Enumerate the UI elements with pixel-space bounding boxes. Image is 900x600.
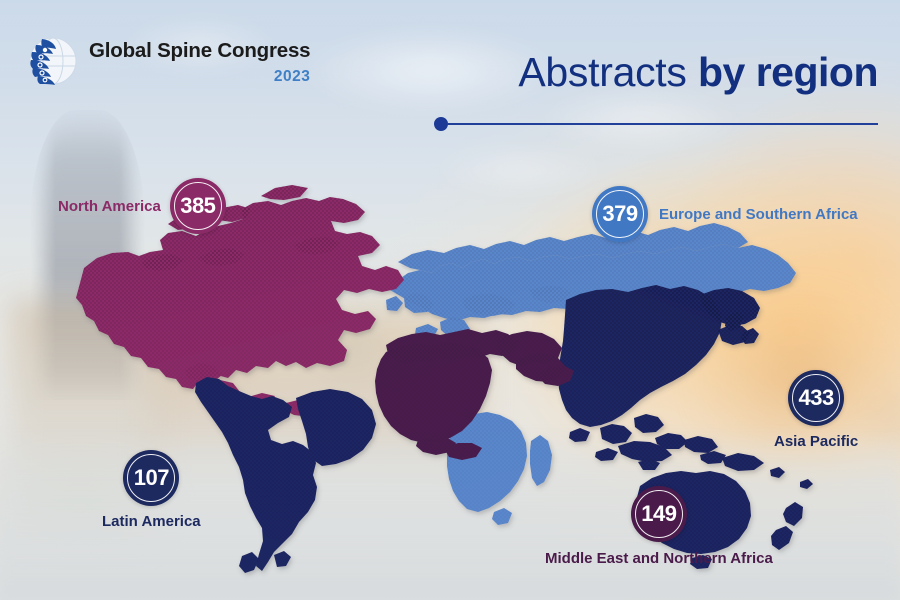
- region-label-middle-east-northern-africa: Middle East and Northern Africa: [545, 550, 773, 567]
- page-title-line: Abstracts by region: [518, 52, 878, 94]
- page-title-light: Abstracts: [518, 49, 686, 95]
- logo-title: Global Spine Congress: [89, 41, 310, 62]
- region-bubble-asia-pacific[interactable]: 433: [788, 370, 844, 426]
- title-rule-dot: [434, 117, 448, 131]
- region-label-asia-pacific: Asia Pacific: [774, 433, 858, 450]
- region-label-latin-america: Latin America: [102, 513, 201, 530]
- title-rule: [434, 117, 878, 131]
- region-marker-north-america[interactable]: North America 385: [58, 178, 226, 234]
- title-rule-line: [447, 123, 878, 125]
- region-value-asia-pacific: 433: [799, 385, 834, 411]
- region-value-europe-southern-africa: 379: [602, 201, 637, 227]
- page-title: Abstracts by region: [518, 52, 878, 94]
- page-title-bold: by region: [698, 49, 878, 95]
- map-region-latin-america: [195, 377, 376, 573]
- region-label-north-america: North America: [58, 198, 161, 215]
- region-value-middle-east-northern-africa: 149: [641, 501, 676, 527]
- spine-globe-logo-icon: [22, 32, 80, 90]
- infographic-canvas: Global Spine Congress 2023 Abstracts by …: [0, 0, 900, 600]
- region-bubble-north-america[interactable]: 385: [170, 178, 226, 234]
- region-marker-europe-southern-africa[interactable]: 379 Europe and Southern Africa: [592, 186, 858, 242]
- region-label-europe-southern-africa: Europe and Southern Africa: [659, 206, 858, 223]
- region-bubble-latin-america[interactable]: 107: [123, 450, 179, 506]
- region-value-latin-america: 107: [134, 465, 169, 491]
- logo-year: 2023: [89, 69, 310, 85]
- region-marker-asia-pacific[interactable]: 433 Asia Pacific: [774, 370, 858, 450]
- region-marker-latin-america[interactable]: 107 Latin America: [102, 450, 201, 530]
- region-value-north-america: 385: [180, 193, 215, 219]
- logo-text-block: Global Spine Congress 2023: [89, 32, 310, 84]
- region-marker-middle-east-northern-africa[interactable]: 149 Middle East and Northern Africa: [545, 486, 773, 567]
- region-bubble-middle-east-northern-africa[interactable]: 149: [631, 486, 687, 542]
- region-bubble-europe-southern-africa[interactable]: 379: [592, 186, 648, 242]
- congress-logo: Global Spine Congress 2023: [22, 32, 310, 90]
